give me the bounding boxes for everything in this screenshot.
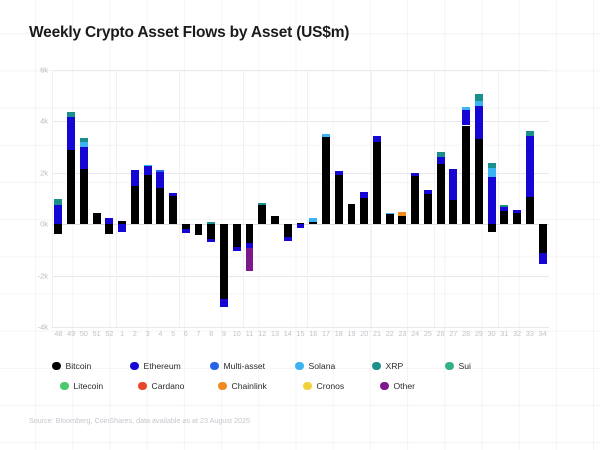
bar-column[interactable] [398, 70, 406, 327]
x-axis-tick-label: 11 [246, 329, 253, 338]
bar-segment [284, 237, 292, 241]
gridline [52, 327, 549, 328]
bar-segment [386, 213, 394, 215]
bar-segment [475, 139, 483, 224]
legend-item-other[interactable]: Other [380, 381, 415, 391]
bar-segment [284, 224, 292, 237]
bar-column[interactable] [539, 70, 547, 327]
bar-segment [513, 210, 521, 213]
legend-row: BitcoinEthereumMulti-assetSolanaXRPSui [52, 356, 552, 376]
legend-item-cardano[interactable]: Cardano [138, 381, 184, 391]
legend-label: Litecoin [74, 381, 104, 391]
legend-item-litecoin[interactable]: Litecoin [60, 381, 103, 391]
legend-item-ethereum[interactable]: Ethereum [130, 361, 181, 371]
bar-segment [309, 218, 317, 222]
bar-segment [246, 224, 254, 243]
bar-segment [131, 186, 139, 225]
bar-segment [246, 248, 254, 271]
x-axis-tick-label: 23 [398, 329, 406, 338]
bar-segment [488, 224, 496, 232]
legend-swatch-icon [52, 362, 61, 371]
bar-segment [220, 299, 228, 307]
x-axis-tick-label: 30 [488, 329, 496, 338]
x-axis-tick-label: 52 [105, 329, 113, 338]
bar-column[interactable] [424, 70, 432, 327]
bar-column[interactable] [169, 70, 177, 327]
bar-segment [398, 212, 406, 217]
bar-segment [348, 204, 356, 224]
bar-segment [526, 197, 534, 224]
bar-column[interactable] [54, 70, 62, 327]
legend-swatch-icon [218, 382, 227, 391]
legend-label: Cronos [317, 381, 345, 391]
legend-swatch-icon [60, 382, 69, 391]
x-axis-tick-label: 26 [437, 329, 445, 338]
bar-column[interactable] [118, 70, 126, 327]
bar-segment [220, 224, 228, 299]
bar-segment [411, 173, 419, 176]
bar-segment [475, 94, 483, 101]
bar-segment [373, 136, 381, 142]
legend-label: Bitcoin [66, 361, 92, 371]
x-axis-tick-label: 20 [360, 329, 368, 338]
bar-segment [322, 137, 330, 224]
bar-segment [207, 222, 215, 224]
x-axis-tick-label: 22 [386, 329, 394, 338]
bar-segment [526, 131, 534, 136]
legend-swatch-icon [130, 362, 139, 371]
x-axis-tick-label: 19 [347, 329, 355, 338]
legend-item-cronos[interactable]: Cronos [303, 381, 344, 391]
x-axis-tick-label: 3 [146, 329, 150, 338]
bar-segment [386, 214, 394, 224]
chart-title: Weekly Crypto Asset Flows by Asset (US$m… [29, 24, 349, 42]
x-axis-tick-label: 51 [93, 329, 101, 338]
bar-segment [437, 164, 445, 224]
legend-item-multi-asset[interactable]: Multi-asset [210, 361, 265, 371]
bar-segment [360, 198, 368, 224]
legend-label: Solana [309, 361, 336, 371]
bar-segment [335, 171, 343, 175]
x-axis-tick-label: 24 [411, 329, 419, 338]
bar-segment [67, 117, 75, 150]
x-axis-tick-label: 49 [67, 329, 75, 338]
bar-column[interactable] [309, 70, 317, 327]
x-axis-tick-label: 8 [209, 329, 213, 338]
x-axis-tick-label: 33 [526, 329, 534, 338]
x-axis-tick-label: 25 [424, 329, 432, 338]
bar-segment [195, 224, 203, 235]
bar-segment [144, 175, 152, 224]
legend-label: Chainlink [232, 381, 267, 391]
legend-swatch-icon [303, 382, 312, 391]
bar-segment [449, 169, 457, 199]
bar-segment [475, 101, 483, 106]
bar-series-container [52, 70, 549, 327]
bar-column[interactable] [284, 70, 292, 327]
bar-column[interactable] [93, 70, 101, 327]
bar-segment [500, 205, 508, 207]
x-axis-tick-label: 12 [258, 329, 266, 338]
x-axis-tick-label: 50 [80, 329, 88, 338]
x-axis-tick-label: 5 [171, 329, 175, 338]
bar-segment [105, 218, 113, 225]
bar-segment [309, 222, 317, 225]
bar-column[interactable] [488, 70, 496, 327]
legend-item-bitcoin[interactable]: Bitcoin [52, 361, 91, 371]
bar-segment [475, 106, 483, 139]
x-axis-tick-label: 28 [462, 329, 470, 338]
bar-segment [360, 192, 368, 198]
bar-segment [144, 166, 152, 175]
bar-segment [424, 194, 432, 224]
bar-segment [118, 224, 126, 232]
x-axis-tick-label: 14 [284, 329, 292, 338]
bar-segment [488, 163, 496, 169]
chart-legend: BitcoinEthereumMulti-assetSolanaXRPSuiLi… [52, 356, 552, 396]
source-note: Source: Bloomberg, CoinShares, data avai… [29, 416, 250, 425]
bar-column[interactable] [207, 70, 215, 327]
legend-label: XRP [386, 361, 404, 371]
x-axis-tick-label: 34 [539, 329, 547, 338]
bar-segment [271, 216, 279, 224]
legend-swatch-icon [372, 362, 381, 371]
bar-segment [398, 216, 406, 224]
bar-segment [539, 253, 547, 264]
bar-column[interactable] [475, 70, 483, 327]
x-axis-tick-label: 6 [184, 329, 188, 338]
bar-column[interactable] [297, 70, 305, 327]
x-axis-tick-label: 18 [335, 329, 343, 338]
bar-segment [373, 142, 381, 224]
bar-segment [233, 247, 241, 252]
x-axis-tick-label: 48 [54, 329, 62, 338]
bar-column[interactable] [437, 70, 445, 327]
plot-area [52, 70, 549, 327]
legend-swatch-icon [380, 382, 389, 391]
bar-segment [80, 147, 88, 169]
bar-segment [539, 224, 547, 253]
bar-segment [500, 211, 508, 224]
bar-segment [156, 188, 164, 224]
bar-segment [207, 224, 215, 239]
y-axis-tick-label: 2k [8, 168, 48, 177]
bar-segment [526, 136, 534, 198]
bar-column[interactable] [220, 70, 228, 327]
legend-label: Cardano [152, 381, 185, 391]
bar-column[interactable] [271, 70, 279, 327]
y-axis: 6k4k2k0k-2k-4k [0, 70, 48, 327]
bar-segment [437, 152, 445, 157]
x-axis-tick-label: 27 [449, 329, 457, 338]
bar-column[interactable] [322, 70, 330, 327]
bar-column[interactable] [449, 70, 457, 327]
y-axis-tick-label: 4k [8, 117, 48, 126]
bar-column[interactable] [526, 70, 534, 327]
x-axis-tick-label: 1 [120, 329, 124, 338]
bar-segment [169, 193, 177, 197]
legend-label: Other [394, 381, 416, 391]
x-axis-tick-label: 21 [373, 329, 381, 338]
bar-segment [488, 177, 496, 224]
bar-column[interactable] [131, 70, 139, 327]
x-axis-tick-label: 32 [513, 329, 521, 338]
x-axis-tick-label: 4 [158, 329, 162, 338]
legend-swatch-icon [210, 362, 219, 371]
bar-segment [411, 176, 419, 224]
legend-label: Ethereum [144, 361, 181, 371]
bar-column[interactable] [500, 70, 508, 327]
bar-segment [182, 229, 190, 232]
y-axis-tick-label: -2k [8, 271, 48, 280]
bar-segment [80, 142, 88, 147]
bar-segment [322, 134, 330, 137]
legend-row: LitecoinCardanoChainlinkCronosOther [52, 376, 552, 396]
bar-segment [500, 207, 508, 211]
bar-column[interactable] [335, 70, 343, 327]
bar-column[interactable] [513, 70, 521, 327]
bar-segment [437, 157, 445, 164]
bar-column[interactable] [80, 70, 88, 327]
x-axis: 4849505152123456789101112131415161718192… [52, 329, 549, 343]
bar-segment [297, 224, 305, 227]
y-axis-tick-label: 0k [8, 220, 48, 229]
bar-segment [207, 239, 215, 242]
bar-segment [462, 126, 470, 225]
bar-segment [462, 107, 470, 110]
x-axis-tick-label: 9 [222, 329, 226, 338]
bar-column[interactable] [258, 70, 266, 327]
bar-column[interactable] [67, 70, 75, 327]
y-axis-tick-label: -4k [8, 323, 48, 332]
legend-swatch-icon [138, 382, 147, 391]
bar-column[interactable] [348, 70, 356, 327]
x-axis-tick-label: 31 [500, 329, 508, 338]
bar-column[interactable] [156, 70, 164, 327]
bar-column[interactable] [373, 70, 381, 327]
legend-item-sui[interactable]: Sui [445, 361, 471, 371]
bar-segment [233, 224, 241, 247]
legend-item-chainlink[interactable]: Chainlink [218, 381, 267, 391]
bar-segment [67, 112, 75, 117]
x-axis-tick-label: 2 [133, 329, 137, 338]
x-axis-tick-label: 13 [271, 329, 279, 338]
bar-segment [424, 190, 432, 194]
bar-segment [449, 200, 457, 225]
bar-segment [462, 110, 470, 125]
x-axis-tick-label: 29 [475, 329, 483, 338]
bar-segment [80, 138, 88, 142]
bar-segment [144, 165, 152, 167]
bar-column[interactable] [195, 70, 203, 327]
legend-item-xrp[interactable]: XRP [372, 361, 403, 371]
bar-segment [54, 205, 62, 225]
bar-column[interactable] [233, 70, 241, 327]
legend-label: Multi-asset [224, 361, 266, 371]
bar-segment [258, 203, 266, 205]
x-axis-tick-label: 10 [233, 329, 241, 338]
bar-column[interactable] [462, 70, 470, 327]
legend-swatch-icon [445, 362, 454, 371]
legend-label: Sui [459, 361, 471, 371]
bar-segment [54, 224, 62, 234]
bar-segment [80, 169, 88, 225]
bar-segment [131, 170, 139, 186]
y-axis-tick-label: 6k [8, 66, 48, 75]
bar-segment [156, 170, 164, 172]
bar-segment [169, 196, 177, 224]
x-axis-tick-label: 7 [197, 329, 201, 338]
bar-segment [258, 205, 266, 224]
bar-column[interactable] [386, 70, 394, 327]
legend-item-solana[interactable]: Solana [295, 361, 335, 371]
legend-swatch-icon [295, 362, 304, 371]
bar-segment [488, 168, 496, 177]
bar-column[interactable] [182, 70, 190, 327]
bar-segment [335, 175, 343, 224]
chart-card: Weekly Crypto Asset Flows by Asset (US$m… [0, 0, 600, 450]
x-axis-tick-label: 16 [309, 329, 317, 338]
bar-segment [156, 172, 164, 188]
bar-column[interactable] [246, 70, 254, 327]
bar-segment [105, 224, 113, 234]
bar-column[interactable] [144, 70, 152, 327]
bar-column[interactable] [105, 70, 113, 327]
bar-segment [54, 199, 62, 205]
bar-segment [67, 150, 75, 224]
bar-segment [513, 213, 521, 224]
x-axis-tick-label: 17 [322, 329, 330, 338]
bar-segment [93, 213, 101, 224]
bar-column[interactable] [360, 70, 368, 327]
bar-column[interactable] [411, 70, 419, 327]
x-axis-tick-label: 15 [297, 329, 305, 338]
